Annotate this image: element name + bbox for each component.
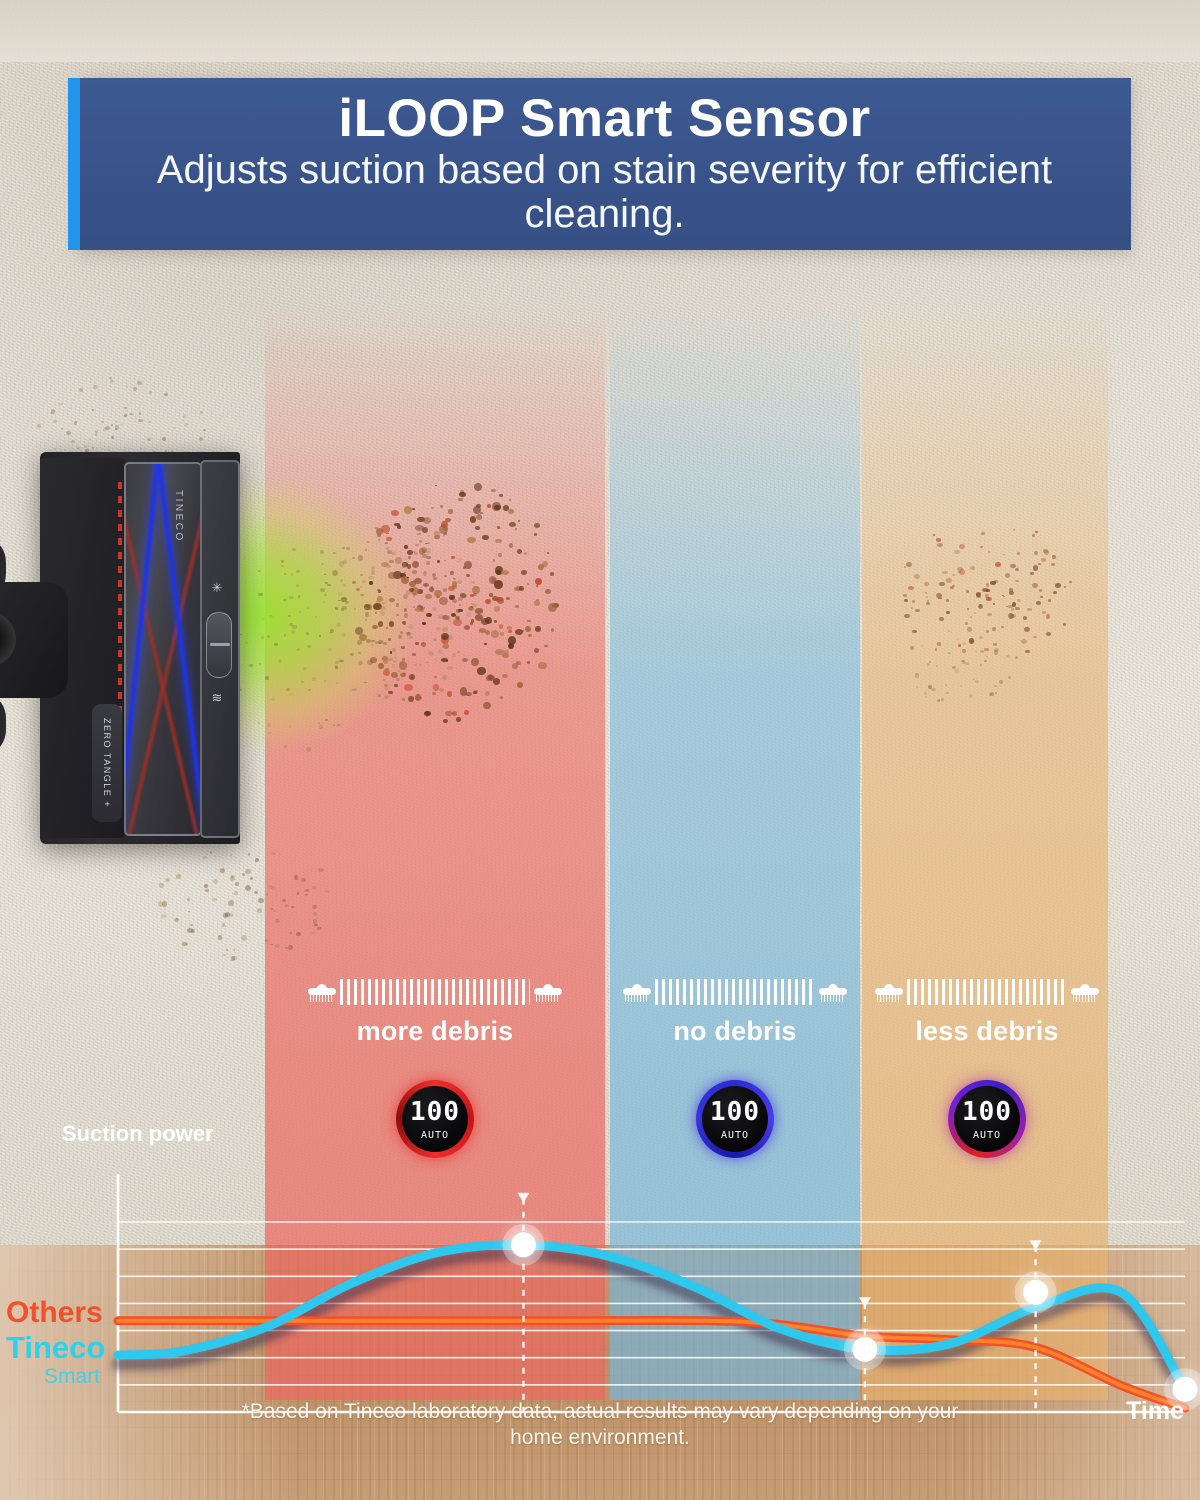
roller-dot-strip [118, 482, 122, 732]
gauge-mode: AUTO [721, 1130, 749, 1141]
vacuum-wheel [0, 696, 6, 752]
brush-bristle-bars-icon [907, 979, 1067, 1005]
brush-end-right-icon [534, 984, 562, 1000]
debris-label-no: no debris [620, 1016, 850, 1047]
gauge-mode: AUTO [973, 1130, 1001, 1141]
chart-ylabel: Suction power [62, 1122, 214, 1147]
gauge-value: 100 [410, 1099, 460, 1125]
legend-smart: Smart [44, 1365, 100, 1389]
suction-gauge-no-debris: 100 AUTO [696, 1080, 774, 1158]
suction-power-chart: Suction power Time Others Tineco Smart *… [0, 1150, 1200, 1450]
suction-gauge-less-debris: 100 AUTO [948, 1080, 1026, 1158]
brush-end-left-icon [308, 984, 336, 1000]
tineco-brand-text: TINECO [173, 490, 184, 543]
legend-tineco: Tineco [6, 1330, 105, 1366]
header-banner: iLOOP Smart Sensor Adjusts suction based… [78, 78, 1131, 250]
zero-tangle-label: ZERO TANGLE + [102, 718, 112, 808]
brush-bristle-bars-icon [340, 979, 530, 1005]
image-stage: ✳ ≋ ZERO TANGLE + TINECO iLOOP Smart Sen… [0, 0, 1200, 1500]
debris-label-less: less debris [872, 1016, 1102, 1047]
roller-window [124, 462, 202, 836]
brush-icon [620, 978, 850, 1006]
debris-label-group-more: more debris [300, 978, 570, 1047]
brush-end-right-icon [1071, 984, 1099, 1000]
debris-label-group-less: less debris [872, 978, 1102, 1047]
brush-end-right-icon [819, 984, 847, 1000]
brush-icon [300, 978, 570, 1006]
banner-title: iLOOP Smart Sensor [338, 92, 870, 146]
gauge-value: 100 [710, 1099, 760, 1125]
legend-others: Others [6, 1296, 103, 1330]
banner-subtitle: Adjusts suction based on stain severity … [104, 149, 1105, 235]
debris-label-group-no: no debris [620, 978, 850, 1047]
carpet-top-band [0, 0, 1200, 62]
brush-end-left-icon [623, 984, 651, 1000]
water-icon: ≋ [208, 690, 226, 708]
debris-label-more: more debris [300, 1016, 570, 1047]
zero-tangle-badge: ZERO TANGLE + [92, 704, 122, 822]
gauge-mode: AUTO [421, 1130, 449, 1141]
vacuum-cleaner-head: ✳ ≋ ZERO TANGLE + TINECO [0, 452, 256, 844]
vacuum-neck-joint [0, 582, 68, 698]
gauge-value: 100 [962, 1099, 1012, 1125]
iloop-sensor-green-glow [238, 450, 578, 780]
brush-end-left-icon [875, 984, 903, 1000]
chart-xlabel: Time [1126, 1397, 1184, 1425]
suction-gauge-more-debris: 100 AUTO [396, 1080, 474, 1158]
vacuum-slider-control [206, 612, 232, 678]
brush-bristle-bars-icon [655, 979, 815, 1005]
brightness-icon: ✳ [208, 580, 226, 598]
brush-icon [872, 978, 1102, 1006]
chart-footnote: *Based on Tineco laboratory data, actual… [240, 1399, 960, 1450]
